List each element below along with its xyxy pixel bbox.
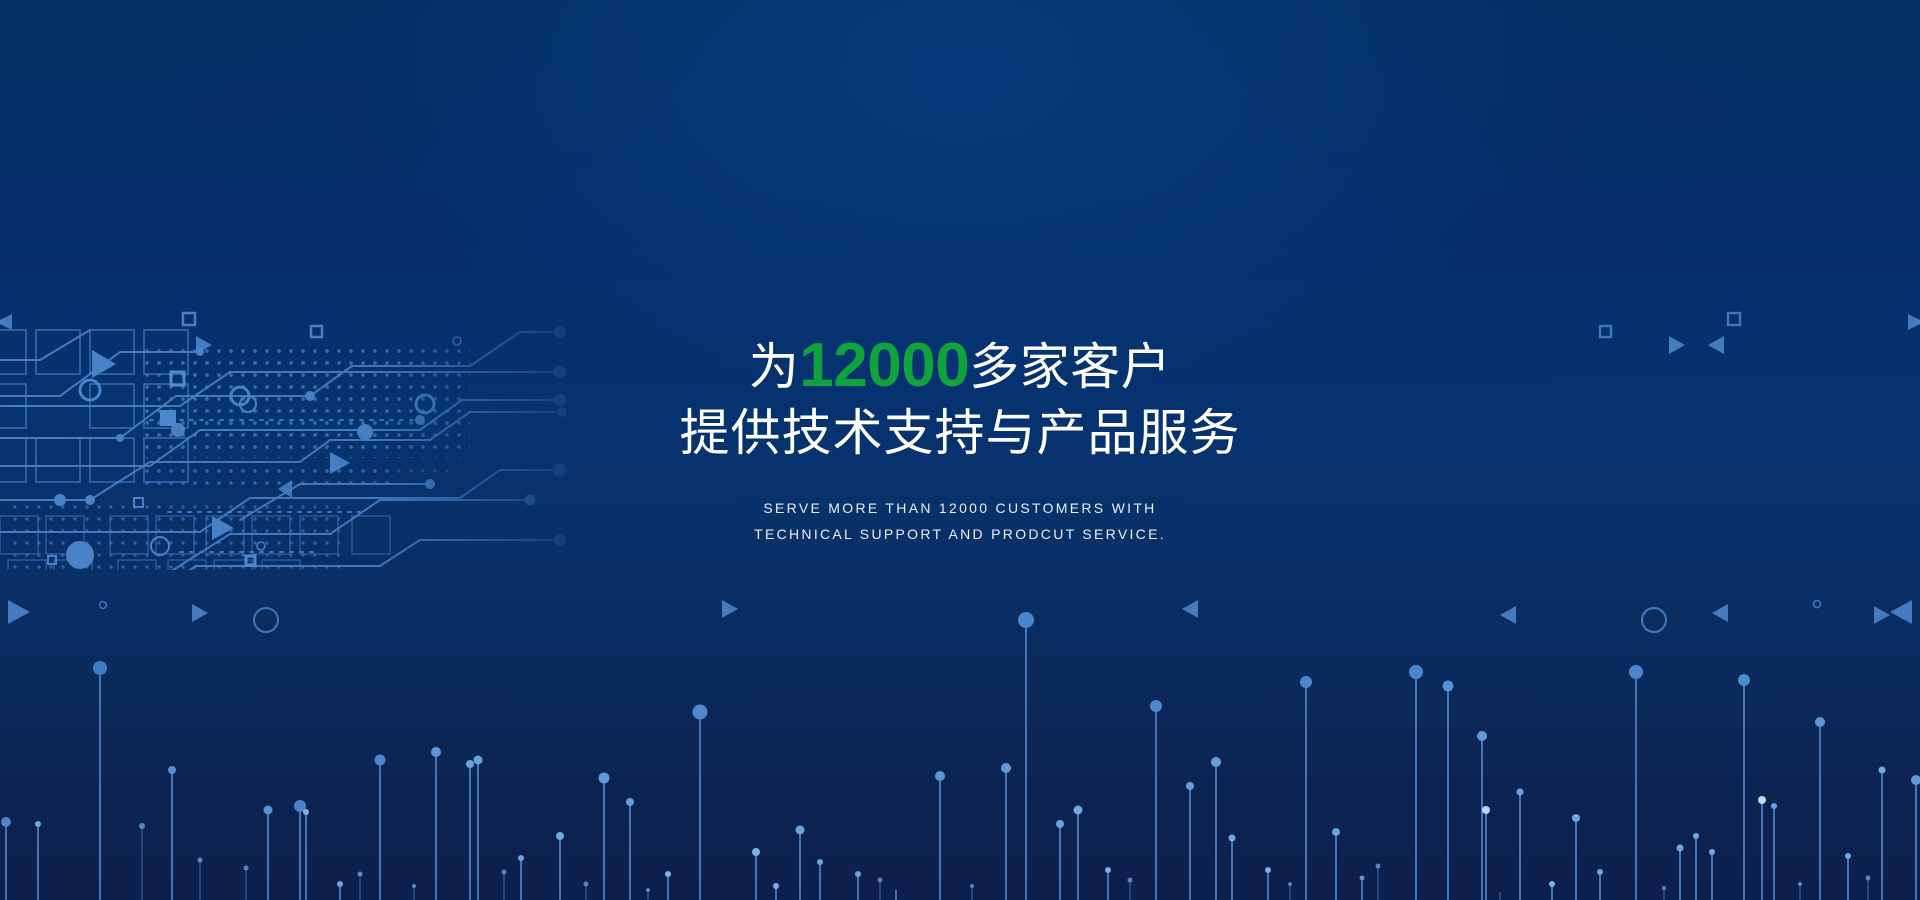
ring-marker-icon [254,608,1666,632]
subtitle-block: SERVE MORE THAN 12000 CUSTOMERS WITH TEC… [0,496,1920,548]
banner-stage: 为12000多家客户 提供技术支持与产品服务 SERVE MORE THAN 1… [0,0,1920,900]
headline-block: 为12000多家客户 提供技术支持与产品服务 [0,331,1920,461]
headline-line-1: 为12000多家客户 [0,331,1920,400]
customer-count: 12000 [799,331,969,400]
subtitle-line-2: TECHNICAL SUPPORT AND PRODCUT SERVICE. [0,522,1920,548]
subtitle-line-1: SERVE MORE THAN 12000 CUSTOMERS WITH [0,496,1920,522]
headline-prefix: 为 [749,339,800,395]
headline-line-2: 提供技术支持与产品服务 [0,405,1920,461]
pin-head-dot [1,612,1920,892]
headline-suffix: 多家客户 [969,339,1171,395]
